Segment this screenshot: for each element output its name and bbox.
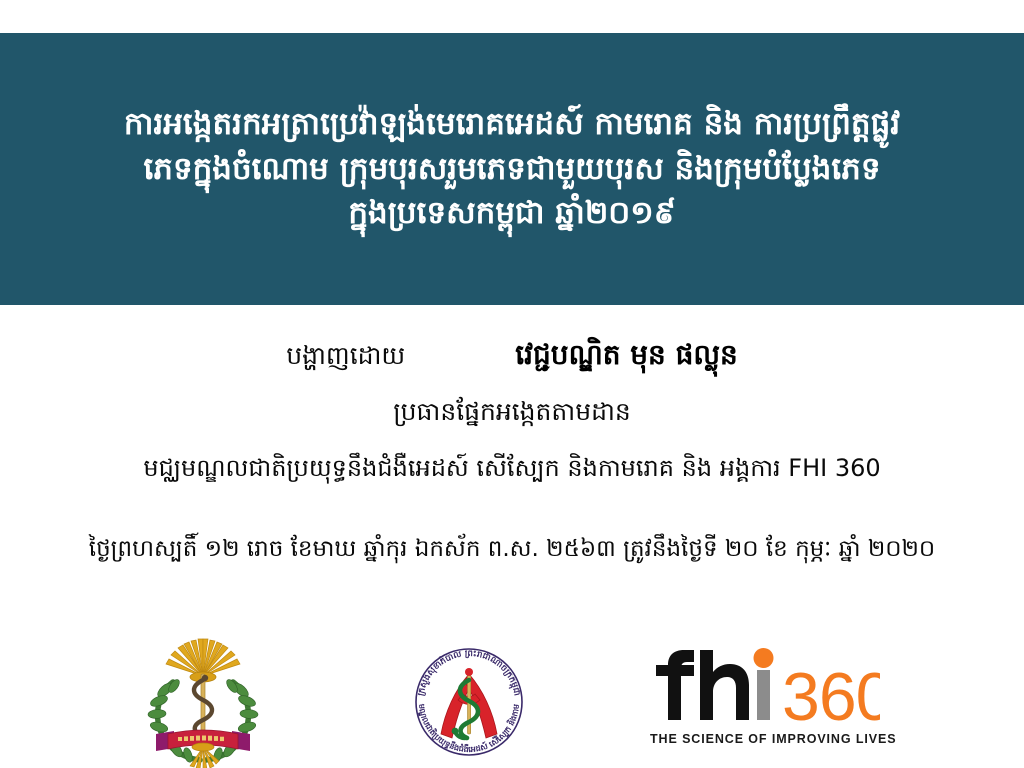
presenter-title: ប្រធានផ្នែកអង្កេតតាមដាន <box>0 397 1024 433</box>
affiliation-line: មជ្ឈមណ្ឌលជាតិប្រយុទ្ធនឹងជំងឺអេដស៍ សើស្បែ… <box>0 453 1024 488</box>
nchads-logo: ក្រសួងសុខាភិបាល ព្រះរាជាណាចក្រកម្ពុជា មជ… <box>405 638 533 766</box>
presenter-name: វេជ្ជបណ្ឌិត មុន ផល្លុន <box>515 337 738 378</box>
title-line-3: ក្នុងប្រទេសកម្ពុជា ឆ្នាំ២០១៩ <box>348 191 675 236</box>
logo-row: ក្រសួងសុខាភិបាល ព្រះរាជាណាចក្រកម្ពុជា មជ… <box>0 630 1024 768</box>
date-line: ថ្ងៃព្រហស្បតិ៍ ១២ រោច ខែមាឃ ឆ្នាំកុរ ឯកស… <box>0 535 1024 568</box>
ministry-of-health-logo <box>138 630 268 768</box>
title-line-2: ភេទក្នុងចំណោម ក្រុមបុរសរួមភេទជាមួយបុរស ន… <box>143 147 880 192</box>
presentation-slide: ការអង្កេតរកអត្រាប្រេវ៉ាឡង់មេរោគអេដស៍ កាម… <box>0 0 1024 768</box>
slide-body: បង្ហាញដោយ វេជ្ជបណ្ឌិត មុន ផល្លុន ប្រធានផ… <box>0 305 1024 768</box>
fhi360-logo: 360 THE SCIENCE OF IMPROVING LIVES <box>650 648 880 748</box>
presented-by-label: បង្ហាញដោយ <box>286 341 405 377</box>
title-banner: ការអង្កេតរកអត្រាប្រេវ៉ាឡង់មេរោគអេដស៍ កាម… <box>0 33 1024 305</box>
fhi360-tagline: THE SCIENCE OF IMPROVING LIVES <box>650 732 880 746</box>
svg-text:360: 360 <box>782 659 880 726</box>
presenter-row: បង្ហាញដោយ វេជ្ជបណ្ឌិត មុន ផល្លុន <box>0 337 1024 378</box>
title-line-1: ការអង្កេតរកអត្រាប្រេវ៉ាឡង់មេរោគអេដស៍ កាម… <box>124 102 900 147</box>
